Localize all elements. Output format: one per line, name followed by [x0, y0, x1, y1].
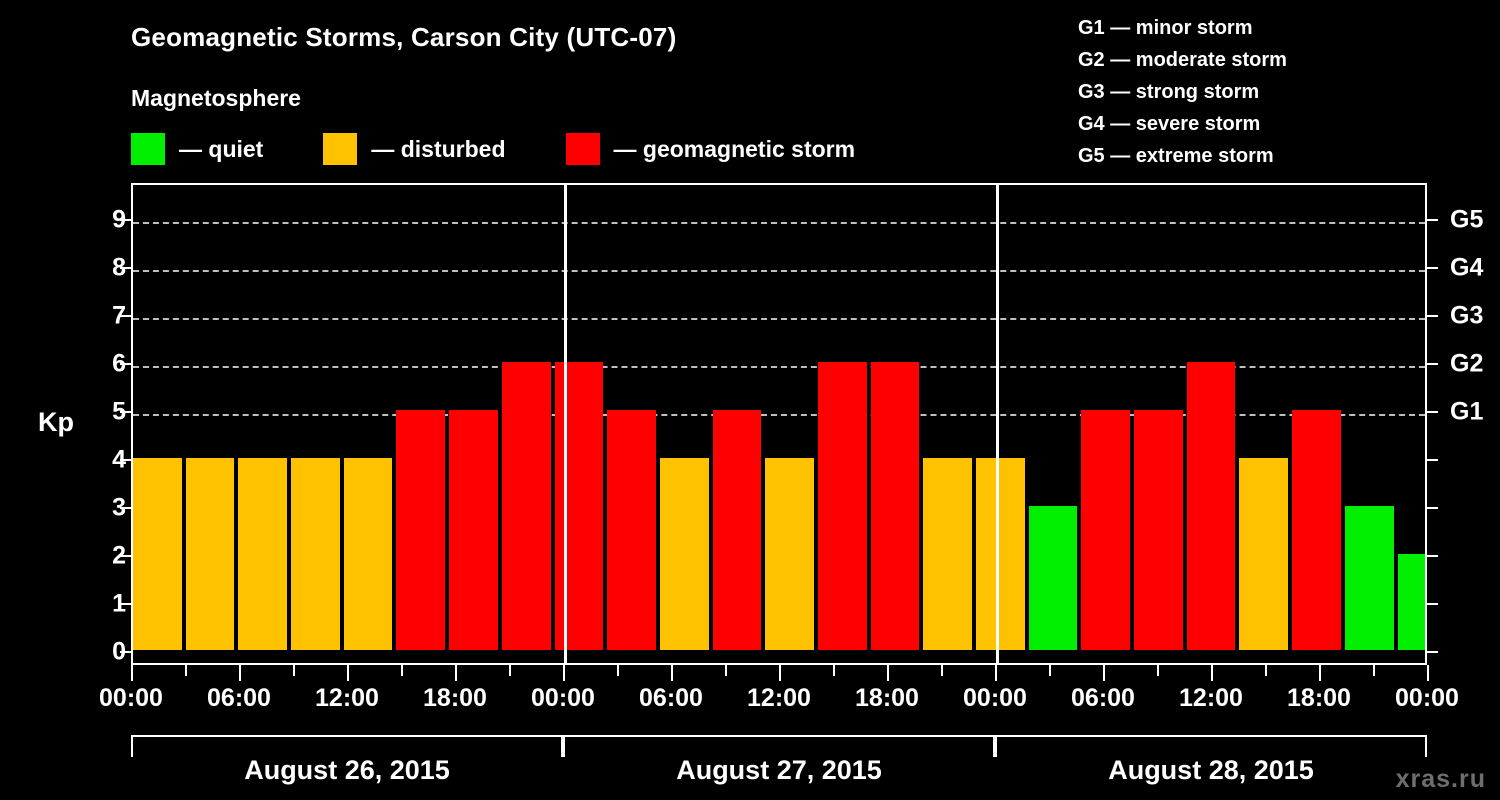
- bar-9: [607, 185, 660, 663]
- x-tick-22: [1319, 665, 1321, 681]
- date-label-2: August 28, 2015: [1108, 755, 1314, 786]
- legend-item-storm: — geomagnetic storm: [566, 133, 856, 165]
- y-tick-mark-5: [120, 411, 131, 413]
- x-tick-10: [671, 665, 673, 681]
- y-axis-title: Kp: [38, 407, 74, 438]
- y-tick-mark-0: [120, 651, 131, 653]
- x-axis-label-0: 00:00: [99, 684, 163, 713]
- x-tick-13: [833, 665, 835, 676]
- x-tick-24: [1427, 665, 1429, 681]
- date-label-0: August 26, 2015: [244, 755, 450, 786]
- x-axis-label-7: 18:00: [855, 684, 919, 713]
- x-axis-label-9: 06:00: [1071, 684, 1135, 713]
- right-axis-tick-4: [1427, 459, 1438, 461]
- subtitle: Magnetosphere: [131, 85, 301, 112]
- x-tick-16: [995, 665, 997, 681]
- g-scale-line-4: G4 — severe storm: [1078, 108, 1287, 140]
- x-tick-6: [455, 665, 457, 681]
- bar-fill: [1187, 362, 1236, 650]
- legend: — quiet— disturbed— geomagnetic storm: [131, 133, 915, 165]
- x-axis-label-6: 12:00: [747, 684, 811, 713]
- x-tick-19: [1157, 665, 1159, 676]
- x-tick-17: [1049, 665, 1051, 676]
- x-tick-15: [941, 665, 943, 676]
- x-tick-18: [1103, 665, 1105, 681]
- x-axis-labels: 00:0006:0012:0018:0000:0006:0012:0018:00…: [0, 684, 1500, 724]
- date-brackets: [131, 735, 1427, 757]
- bar-fill: [818, 362, 867, 650]
- x-tick-3: [293, 665, 295, 676]
- bar-fill: [186, 458, 235, 650]
- y-tick-mark-2: [120, 555, 131, 557]
- y-tick-mark-9: [120, 219, 131, 221]
- g-tick-label-G3: G3: [1450, 302, 1483, 331]
- y-tick-mark-6: [120, 363, 131, 365]
- right-axis-tick-9: [1427, 219, 1438, 221]
- x-axis-label-8: 00:00: [963, 684, 1027, 713]
- bar-fill: [1292, 410, 1341, 650]
- bar-fill: [344, 458, 393, 650]
- x-tick-12: [779, 665, 781, 681]
- bar-23: [1345, 185, 1398, 663]
- legend-label-storm: — geomagnetic storm: [614, 136, 856, 163]
- legend-swatch-quiet-icon: [131, 133, 165, 165]
- bar-20: [1187, 185, 1240, 663]
- right-axis-tick-8: [1427, 267, 1438, 269]
- bar-11: [713, 185, 766, 663]
- bar-fill: [555, 362, 604, 650]
- bar-fill: [502, 362, 551, 650]
- bar-8: [555, 185, 608, 663]
- legend-label-disturbed: — disturbed: [371, 136, 505, 163]
- right-axis-tick-0: [1427, 651, 1438, 653]
- g-tick-label-G1: G1: [1450, 398, 1483, 427]
- bar-10: [660, 185, 713, 663]
- bar-17: [1029, 185, 1082, 663]
- x-tick-21: [1265, 665, 1267, 676]
- g-tick-label-G2: G2: [1450, 350, 1483, 379]
- legend-item-disturbed: — disturbed: [323, 133, 505, 165]
- legend-label-quiet: — quiet: [179, 136, 263, 163]
- bar-15: [923, 185, 976, 663]
- right-axis-tick-7: [1427, 315, 1438, 317]
- g-scale-legend: G1 — minor stormG2 — moderate stormG3 — …: [1078, 12, 1287, 172]
- bar-19: [1134, 185, 1187, 663]
- bar-0: [133, 185, 186, 663]
- bar-fill: [923, 458, 972, 650]
- bar-2: [238, 185, 291, 663]
- x-axis-label-2: 12:00: [315, 684, 379, 713]
- x-axis-label-12: 00:00: [1395, 684, 1459, 713]
- x-tick-20: [1211, 665, 1213, 681]
- bar-fill: [291, 458, 340, 650]
- bar-fill: [660, 458, 709, 650]
- bar-22: [1292, 185, 1345, 663]
- y-tick-mark-4: [120, 459, 131, 461]
- x-axis-label-3: 18:00: [423, 684, 487, 713]
- x-axis-label-5: 06:00: [639, 684, 703, 713]
- right-axis-tick-3: [1427, 507, 1438, 509]
- x-tick-2: [239, 665, 241, 681]
- bar-series: [133, 185, 1425, 663]
- bar-fill: [765, 458, 814, 650]
- right-axis-tick-2: [1427, 555, 1438, 557]
- bar-fill: [238, 458, 287, 650]
- bar-7: [502, 185, 555, 663]
- bar-fill: [396, 410, 445, 650]
- x-axis-label-4: 00:00: [531, 684, 595, 713]
- bar-1: [186, 185, 239, 663]
- x-axis-label-11: 18:00: [1287, 684, 1351, 713]
- x-tick-4: [347, 665, 349, 681]
- day-separator-1: [564, 185, 567, 663]
- bar-fill: [133, 458, 182, 650]
- chart-plot-area: [131, 183, 1427, 665]
- right-axis-tick-6: [1427, 363, 1438, 365]
- y-tick-mark-1: [120, 603, 131, 605]
- bar-fill: [976, 458, 1025, 650]
- bar-12: [765, 185, 818, 663]
- x-tick-14: [887, 665, 889, 681]
- date-label-1: August 27, 2015: [676, 755, 882, 786]
- page-title: Geomagnetic Storms, Carson City (UTC-07): [131, 22, 676, 53]
- bar-18: [1081, 185, 1134, 663]
- bar-fill: [1081, 410, 1130, 650]
- date-bracket-0: [131, 735, 563, 757]
- x-axis-label-1: 06:00: [207, 684, 271, 713]
- watermark: xras.ru: [1396, 765, 1486, 794]
- bar-5: [396, 185, 449, 663]
- bar-fill: [1345, 506, 1394, 650]
- bar-13: [818, 185, 871, 663]
- bar-6: [449, 185, 502, 663]
- x-tick-23: [1373, 665, 1375, 676]
- bar-fill: [1398, 554, 1425, 650]
- y-tick-mark-3: [120, 507, 131, 509]
- x-tick-9: [617, 665, 619, 676]
- bar-24: [1398, 185, 1425, 663]
- date-bracket-2: [995, 735, 1427, 757]
- legend-swatch-disturbed-icon: [323, 133, 357, 165]
- date-bracket-1: [563, 735, 995, 757]
- y-tick-mark-8: [120, 267, 131, 269]
- bar-fill: [1134, 410, 1183, 650]
- bar-fill: [607, 410, 656, 650]
- bar-fill: [713, 410, 762, 650]
- g-tick-label-G5: G5: [1450, 206, 1483, 235]
- x-tick-7: [509, 665, 511, 676]
- x-tick-1: [185, 665, 187, 676]
- g-tick-label-G4: G4: [1450, 254, 1483, 283]
- bar-fill: [1029, 506, 1078, 650]
- x-tick-11: [725, 665, 727, 676]
- bar-fill: [871, 362, 920, 650]
- g-scale-line-2: G2 — moderate storm: [1078, 44, 1287, 76]
- bar-21: [1239, 185, 1292, 663]
- legend-item-quiet: — quiet: [131, 133, 263, 165]
- x-tick-8: [563, 665, 565, 681]
- g-scale-line-3: G3 — strong storm: [1078, 76, 1287, 108]
- y-axis-labels: 0123456789: [86, 183, 126, 665]
- g-scale-line-1: G1 — minor storm: [1078, 12, 1287, 44]
- bar-fill: [449, 410, 498, 650]
- bar-3: [291, 185, 344, 663]
- day-separator-2: [996, 185, 999, 663]
- y-tick-mark-7: [120, 315, 131, 317]
- right-axis-tick-1: [1427, 603, 1438, 605]
- g-scale-line-5: G5 — extreme storm: [1078, 140, 1287, 172]
- right-axis-tick-5: [1427, 411, 1438, 413]
- bar-4: [344, 185, 397, 663]
- bar-14: [871, 185, 924, 663]
- x-tick-5: [401, 665, 403, 676]
- bar-16: [976, 185, 1029, 663]
- x-tick-0: [131, 665, 133, 681]
- x-axis-ticks: [131, 665, 1427, 681]
- bar-fill: [1239, 458, 1288, 650]
- legend-swatch-storm-icon: [566, 133, 600, 165]
- x-axis-label-10: 12:00: [1179, 684, 1243, 713]
